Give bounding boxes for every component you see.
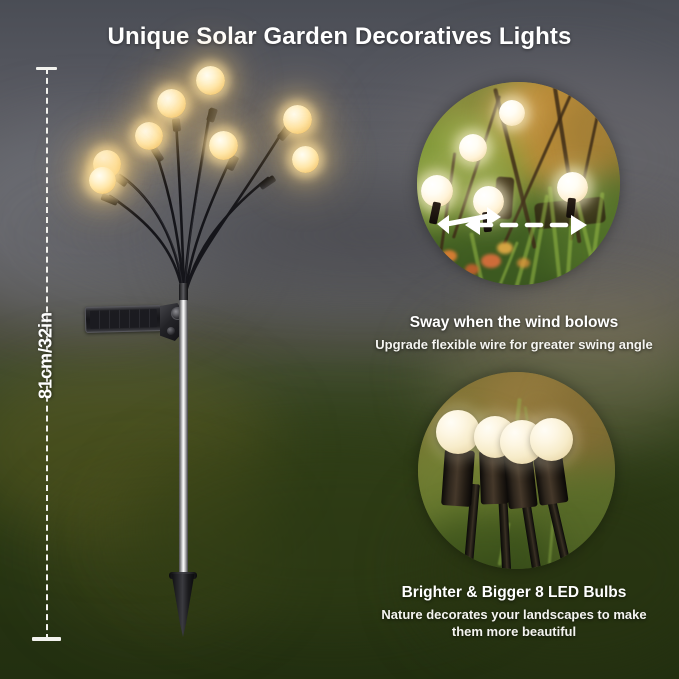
bulb-neck bbox=[441, 449, 475, 507]
product-illustration bbox=[0, 0, 370, 679]
led-bulb bbox=[209, 131, 238, 160]
bracket-screw-icon bbox=[167, 327, 175, 335]
led-bulb bbox=[157, 89, 186, 118]
feature-headline: Sway when the wind bolows bbox=[349, 314, 679, 332]
product-infographic: Unique Solar Garden Decoratives Lights 8… bbox=[0, 0, 679, 679]
feature-subtext: Nature decorates your landscapes to make… bbox=[349, 606, 679, 640]
led-bulb bbox=[196, 66, 225, 95]
solar-panel bbox=[85, 305, 163, 333]
feature-image-bulbs bbox=[418, 372, 615, 569]
flower-petal bbox=[481, 254, 501, 268]
bulb-socket bbox=[172, 118, 181, 132]
led-bulb bbox=[499, 100, 525, 126]
sway-dashed-arrow-icon bbox=[461, 204, 591, 246]
flower-petal bbox=[465, 264, 479, 275]
feature-caption-bulbs: Brighter & Bigger 8 LED Bulbs Nature dec… bbox=[349, 584, 679, 640]
led-bulb bbox=[459, 134, 487, 162]
flower-petal bbox=[517, 258, 530, 268]
led-bulb bbox=[89, 167, 116, 194]
feature-caption-sway: Sway when the wind bolows Upgrade flexib… bbox=[349, 314, 679, 353]
feature-subtext-line2: them more beautiful bbox=[349, 623, 679, 640]
feature-headline: Brighter & Bigger 8 LED Bulbs bbox=[349, 584, 679, 602]
led-bulb bbox=[135, 122, 163, 150]
stainless-steel-pole bbox=[179, 300, 188, 582]
led-bulb bbox=[530, 418, 573, 461]
led-bulb bbox=[292, 146, 319, 173]
led-bulb bbox=[283, 105, 312, 134]
feature-subtext-line1: Nature decorates your landscapes to make bbox=[349, 606, 679, 623]
solar-cell-grid bbox=[90, 309, 157, 329]
flower-petal bbox=[441, 250, 457, 262]
feature-subtext: Upgrade flexible wire for greater swing … bbox=[349, 336, 679, 353]
feature-image-sway bbox=[417, 82, 620, 285]
